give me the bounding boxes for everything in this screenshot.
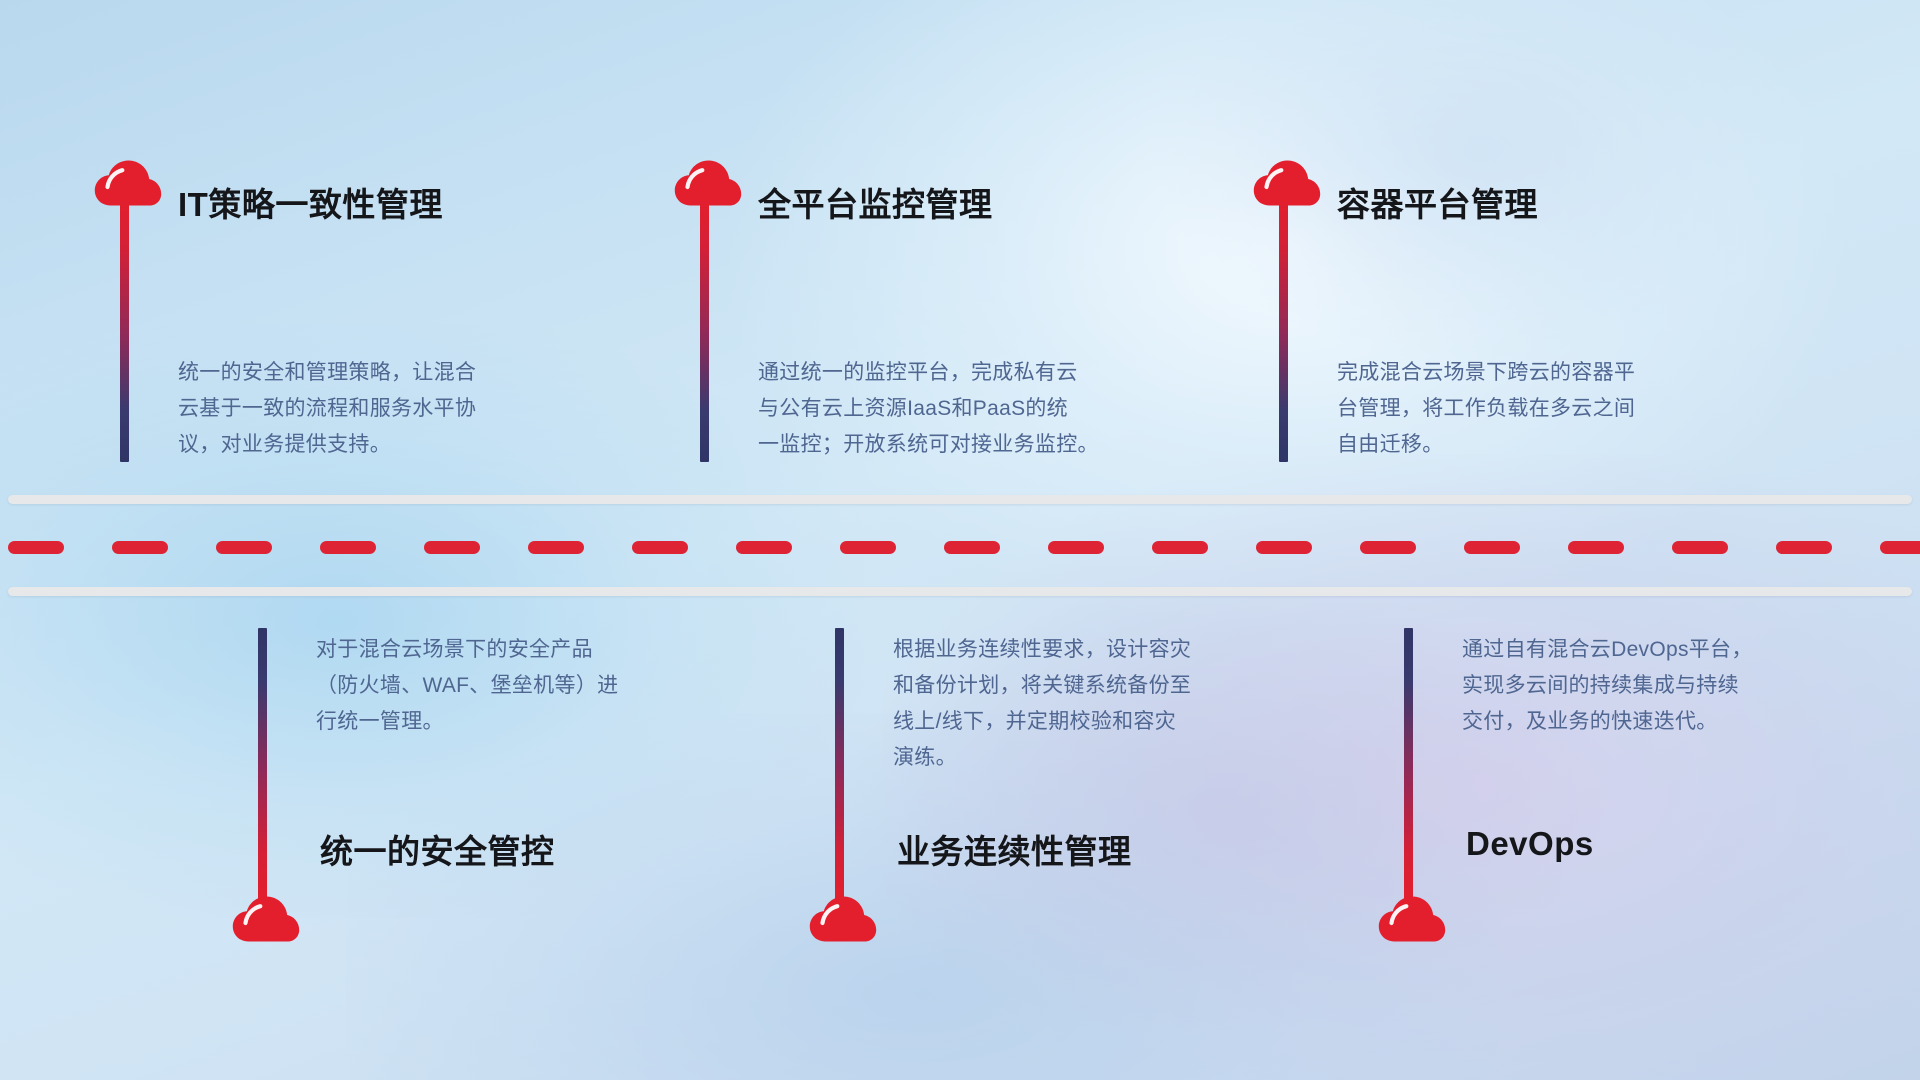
road-dash (1776, 541, 1832, 554)
road-dash (216, 541, 272, 554)
stem-line (835, 628, 844, 900)
feature-title: 业务连续性管理 (897, 825, 1132, 873)
feature-title: IT策略一致性管理 (178, 178, 443, 226)
feature-description: 通过自有混合云DevOps平台， 实现多云间的持续集成与持续 交付，及业务的快速… (1462, 632, 1912, 740)
road-dash (424, 541, 480, 554)
road-dash (1880, 541, 1920, 554)
stem-line (1279, 200, 1288, 462)
road-line-upper (8, 495, 1912, 504)
feature-description: 完成混合云场景下跨云的容器平 台管理，将工作负载在多云之间 自由迁移。 (1337, 355, 1787, 463)
feature-description: 对于混合云场景下的安全产品 （防火墙、WAF、堡垒机等）进 行统一管理。 (316, 632, 746, 740)
road-dash (1672, 541, 1728, 554)
road-dash (8, 541, 64, 554)
road-dash (528, 541, 584, 554)
road-dash (112, 541, 168, 554)
road-dash (736, 541, 792, 554)
feature-description: 根据业务连续性要求，设计容灾 和备份计划，将关键系统备份至 线上/线下，并定期校… (893, 632, 1343, 776)
feature-description: 通过统一的监控平台，完成私有云 与公有云上资源IaaS和PaaS的统 一监控；开… (758, 355, 1218, 463)
road-divider (0, 495, 1920, 595)
feature-title: 统一的安全管控 (320, 825, 555, 873)
feature-title: 全平台监控管理 (758, 178, 993, 226)
feature-title: 容器平台管理 (1337, 178, 1538, 226)
stem-line (120, 200, 129, 462)
road-dash (944, 541, 1000, 554)
cloud-icon (232, 896, 300, 942)
feature-title: DevOps (1466, 825, 1594, 863)
road-dash (840, 541, 896, 554)
road-dash (320, 541, 376, 554)
feature-description: 统一的安全和管理策略，让混合 云基于一致的流程和服务水平协 议，对业务提供支持。 (178, 355, 608, 463)
road-dashed-center-line (0, 541, 1920, 554)
cloud-icon (809, 896, 877, 942)
stem-line (700, 200, 709, 462)
road-dash (632, 541, 688, 554)
road-dash (1568, 541, 1624, 554)
road-dash (1256, 541, 1312, 554)
cloud-icon (1378, 896, 1446, 942)
road-dash (1360, 541, 1416, 554)
road-dash (1048, 541, 1104, 554)
road-line-lower (8, 587, 1912, 596)
stem-line (1404, 628, 1413, 900)
stem-line (258, 628, 267, 900)
road-dash (1464, 541, 1520, 554)
road-dash (1152, 541, 1208, 554)
